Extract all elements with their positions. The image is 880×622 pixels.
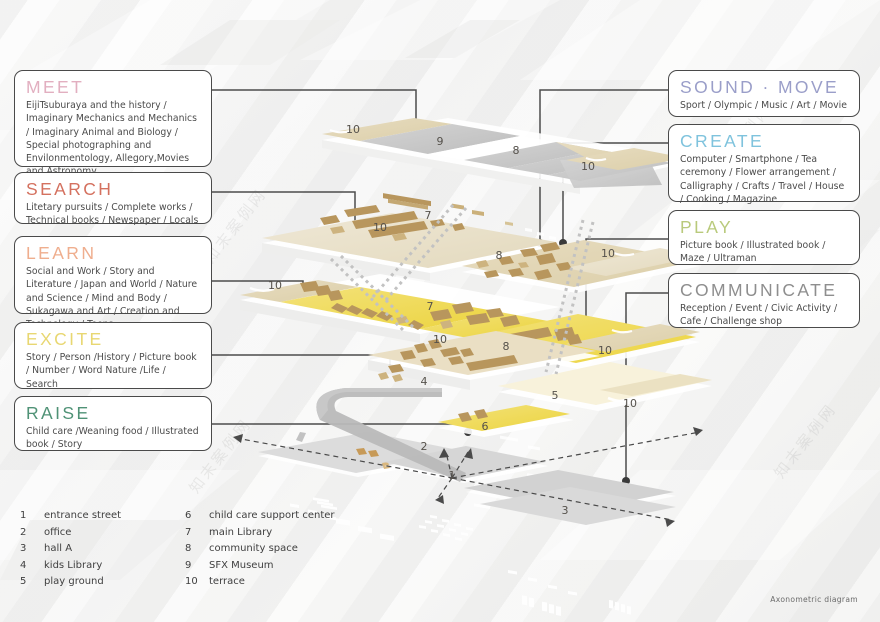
callout-meet-title: MEET	[26, 78, 200, 97]
plan-label-8: 8	[496, 249, 503, 262]
callout-learn[interactable]: LEARN Social and Work / Story and Litera…	[14, 236, 212, 314]
legend-label: kids Library	[44, 560, 102, 571]
callout-raise-body: Child care /Weaning food / Illustrated b…	[26, 425, 200, 451]
plan-label-5: 5	[552, 389, 559, 402]
diagram-caption: Axonometric diagram	[770, 595, 858, 604]
callout-play-title: PLAY	[680, 218, 848, 237]
legend-item: 9SFX Museum	[185, 558, 335, 575]
legend-label: child care support center	[209, 510, 335, 521]
legend-item: 5play ground	[20, 574, 121, 591]
legend-item: 1entrance street	[20, 508, 121, 525]
callout-search-title: SEARCH	[26, 180, 200, 199]
legend-item: 10terrace	[185, 574, 335, 591]
callout-excite-body: Story / Person /History / Picture book /…	[26, 351, 200, 391]
plan-label-10: 10	[433, 333, 447, 346]
plan-label-7: 7	[427, 300, 434, 313]
legend-number: 5	[20, 574, 44, 591]
callout-excite[interactable]: EXCITE Story / Person /History / Picture…	[14, 322, 212, 389]
plan-label-8: 8	[513, 144, 520, 157]
callout-search-body: Litetary pursuits / Complete works / Tec…	[26, 201, 200, 227]
plan-label-10: 10	[268, 279, 282, 292]
legend-number: 4	[20, 558, 44, 575]
legend-label: entrance street	[44, 510, 121, 521]
plan-label-8: 8	[503, 340, 510, 353]
callout-communicate-body: Reception / Event / Civic Activity / Caf…	[680, 302, 848, 328]
legend-number: 3	[20, 541, 44, 558]
plan-label-2: 2	[421, 440, 428, 453]
plan-label-10: 10	[601, 247, 615, 260]
callout-play[interactable]: PLAY Picture book / Illustrated book / M…	[668, 210, 860, 265]
legend-item: 6child care support center	[185, 508, 335, 525]
legend-label: SFX Museum	[209, 560, 274, 571]
plan-label-3: 3	[562, 504, 569, 517]
plan-label-4: 4	[421, 375, 428, 388]
plan-label-10: 10	[373, 221, 387, 234]
plan-label-7: 7	[425, 209, 432, 222]
callout-sound-move[interactable]: SOUND · MOVE Sport / Olympic / Music / A…	[668, 70, 860, 117]
legend-item: 2office	[20, 525, 121, 542]
plan-label-6: 6	[482, 420, 489, 433]
legend-number: 9	[185, 558, 209, 575]
diagram-canvas: 知末案例网知末案例网知末案例网知末案例网	[0, 0, 880, 622]
legend-number: 7	[185, 525, 209, 542]
legend-column-2: 6child care support center7main Library8…	[185, 508, 335, 591]
callout-communicate[interactable]: COMMUNICATE Reception / Event / Civic Ac…	[668, 273, 860, 328]
plan-label-10: 10	[346, 123, 360, 136]
plan-label-10: 10	[581, 160, 595, 173]
plan-label-10: 10	[598, 344, 612, 357]
callout-create-title: CREATE	[680, 132, 848, 151]
legend-number: 10	[185, 574, 209, 591]
legend-item: 7main Library	[185, 525, 335, 542]
callout-raise[interactable]: RAISE Child care /Weaning food / Illustr…	[14, 396, 212, 451]
callout-excite-title: EXCITE	[26, 330, 200, 349]
callout-play-body: Picture book / Illustrated book / Maze /…	[680, 239, 848, 265]
legend-number: 8	[185, 541, 209, 558]
callout-meet[interactable]: MEET EijiTsuburaya and the history / Ima…	[14, 70, 212, 167]
callout-raise-title: RAISE	[26, 404, 200, 423]
plan-label-9: 9	[437, 135, 444, 148]
plan-label-1: 1	[449, 469, 456, 482]
legend-number: 2	[20, 525, 44, 542]
legend-column-1: 1entrance street2office3hall A4kids Libr…	[20, 508, 121, 591]
legend-number: 6	[185, 508, 209, 525]
callout-create[interactable]: CREATE Computer / Smartphone / Tea cerem…	[668, 124, 860, 202]
callout-sound-move-body: Sport / Olympic / Music / Art / Movie	[680, 99, 848, 112]
legend-item: 3hall A	[20, 541, 121, 558]
callout-sound-move-title: SOUND · MOVE	[680, 78, 848, 97]
legend-label: office	[44, 527, 71, 538]
legend-label: terrace	[209, 576, 245, 587]
legend-label: play ground	[44, 576, 104, 587]
legend-label: main Library	[209, 527, 272, 538]
callout-meet-body: EijiTsuburaya and the history / Imaginar…	[26, 99, 200, 178]
legend-item: 4kids Library	[20, 558, 121, 575]
legend-label: community space	[209, 543, 298, 554]
callout-create-body: Computer / Smartphone / Tea ceremony / F…	[680, 153, 848, 206]
legend-number: 1	[20, 508, 44, 525]
plan-label-10: 10	[623, 397, 637, 410]
callout-search[interactable]: SEARCH Litetary pursuits / Complete work…	[14, 172, 212, 224]
callout-learn-title: LEARN	[26, 244, 200, 263]
legend-label: hall A	[44, 543, 72, 554]
callout-communicate-title: COMMUNICATE	[680, 281, 848, 300]
legend-item: 8community space	[185, 541, 335, 558]
